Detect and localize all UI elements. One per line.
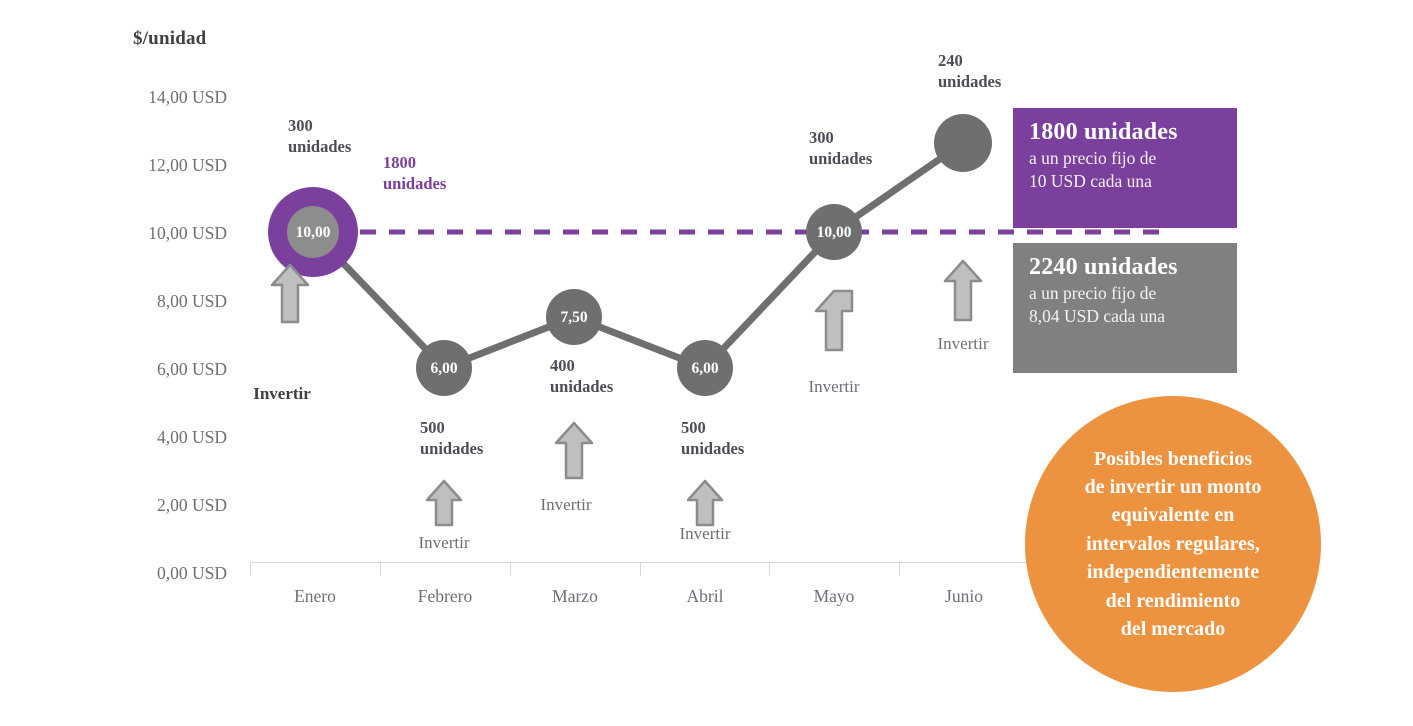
- units-number-abril: 500: [681, 417, 744, 438]
- units-word-abril: unidades: [681, 438, 744, 459]
- invertir-label-febrero: Invertir: [384, 533, 504, 553]
- units-word-mayo: unidades: [809, 148, 872, 169]
- invertir-label-enero: Invertir: [222, 384, 342, 404]
- highlight-circle-benefits: Posibles beneficios de invertir un monto…: [1025, 396, 1321, 692]
- callout-gray-line1: a un precio fijo de: [1029, 282, 1221, 305]
- units-number-junio: 240: [938, 50, 1001, 71]
- callout-purple-line2: 10 USD cada una: [1029, 170, 1221, 193]
- marker-value-mayo: 10,00: [789, 224, 879, 242]
- reference-units-number: 1800: [383, 152, 446, 173]
- marker-value-febrero: 6,00: [399, 360, 489, 378]
- callout-purple-1800-unidades: 1800 unidades a un precio fijo de 10 USD…: [1013, 108, 1237, 228]
- marker-value-marzo: 7,50: [529, 309, 619, 327]
- units-label-febrero: 500 unidades: [420, 417, 483, 459]
- invertir-arrow-abril: [688, 481, 722, 525]
- callout-gray-headline: 2240 unidades: [1029, 253, 1221, 282]
- units-number-marzo: 400: [550, 355, 613, 376]
- invertir-label-junio: Invertir: [903, 334, 1023, 354]
- highlight-circle-text: Posibles beneficios de invertir un monto…: [1069, 445, 1278, 644]
- invertir-arrow-marzo: [556, 423, 592, 478]
- units-label-abril: 500 unidades: [681, 417, 744, 459]
- units-word-marzo: unidades: [550, 376, 613, 397]
- marker-junio[interactable]: [934, 114, 992, 172]
- invertir-arrow-mayo: [816, 291, 852, 350]
- units-label-enero: 300 unidades: [288, 115, 351, 157]
- chart-canvas: $/unidad 14,00 USD 12,00 USD 10,00 USD 8…: [0, 0, 1413, 726]
- invertir-label-marzo: Invertir: [506, 495, 626, 515]
- units-number-enero: 300: [288, 115, 351, 136]
- units-word-enero: unidades: [288, 136, 351, 157]
- invertir-label-abril: Invertir: [645, 524, 765, 544]
- callout-purple-line1: a un precio fijo de: [1029, 147, 1221, 170]
- units-label-marzo: 400 unidades: [550, 355, 613, 397]
- units-word-junio: unidades: [938, 71, 1001, 92]
- units-number-febrero: 500: [420, 417, 483, 438]
- callout-purple-headline: 1800 unidades: [1029, 118, 1221, 147]
- invertir-arrow-febrero: [427, 481, 461, 525]
- invertir-label-mayo: Invertir: [774, 377, 894, 397]
- reference-units-label: 1800 unidades: [383, 152, 446, 194]
- marker-value-enero: 10,00: [268, 224, 358, 242]
- units-label-junio: 240 unidades: [938, 50, 1001, 92]
- reference-units-word: unidades: [383, 173, 446, 194]
- marker-value-abril: 6,00: [660, 360, 750, 378]
- callout-gray-2240-unidades: 2240 unidades a un precio fijo de 8,04 U…: [1013, 243, 1237, 373]
- units-number-mayo: 300: [809, 127, 872, 148]
- units-label-mayo: 300 unidades: [809, 127, 872, 169]
- units-word-febrero: unidades: [420, 438, 483, 459]
- callout-gray-line2: 8,04 USD cada una: [1029, 305, 1221, 328]
- invertir-arrow-junio: [945, 261, 981, 320]
